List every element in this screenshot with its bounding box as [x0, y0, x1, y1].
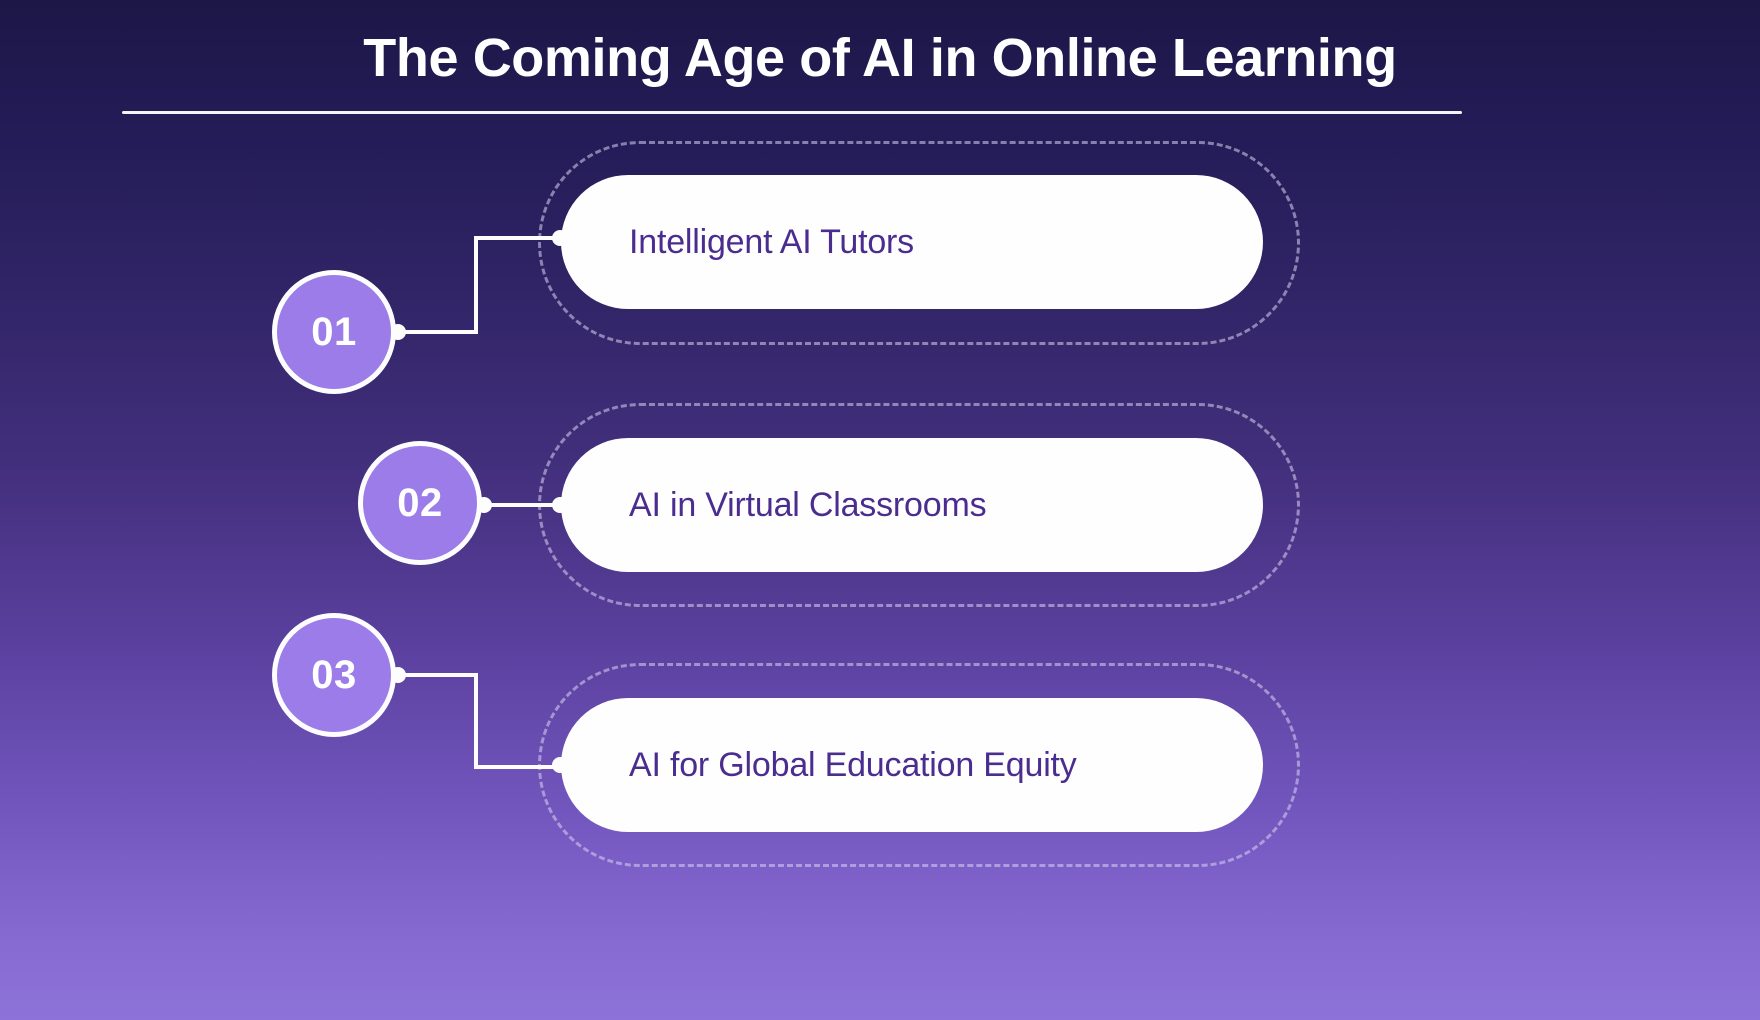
title-divider: [122, 111, 1462, 114]
step-number-circle-2[interactable]: 02: [358, 441, 482, 565]
connector-segment-1c: [474, 236, 562, 240]
connector-segment-1a: [396, 330, 478, 334]
connector-segment-3a: [396, 673, 478, 677]
step-number-circle-3[interactable]: 03: [272, 613, 396, 737]
step-card-2[interactable]: AI in Virtual Classrooms: [561, 438, 1263, 572]
step-card-label-2: AI in Virtual Classrooms: [561, 486, 986, 525]
title-block: The Coming Age of AI in Online Learning: [0, 0, 1760, 128]
step-number-label-3: 03: [311, 653, 357, 698]
connector-segment-3b: [474, 673, 478, 769]
step-card-label-3: AI for Global Education Equity: [561, 746, 1077, 785]
step-card-label-1: Intelligent AI Tutors: [561, 223, 914, 262]
step-card-1[interactable]: Intelligent AI Tutors: [561, 175, 1263, 309]
connector-segment-1b: [474, 238, 478, 334]
step-number-label-2: 02: [397, 481, 443, 526]
connector-segment-3c: [474, 765, 562, 769]
step-number-label-1: 01: [311, 310, 357, 355]
step-number-circle-1[interactable]: 01: [272, 270, 396, 394]
connector-segment-2a: [482, 503, 562, 507]
step-card-3[interactable]: AI for Global Education Equity: [561, 698, 1263, 832]
page-title: The Coming Age of AI in Online Learning: [0, 30, 1760, 87]
